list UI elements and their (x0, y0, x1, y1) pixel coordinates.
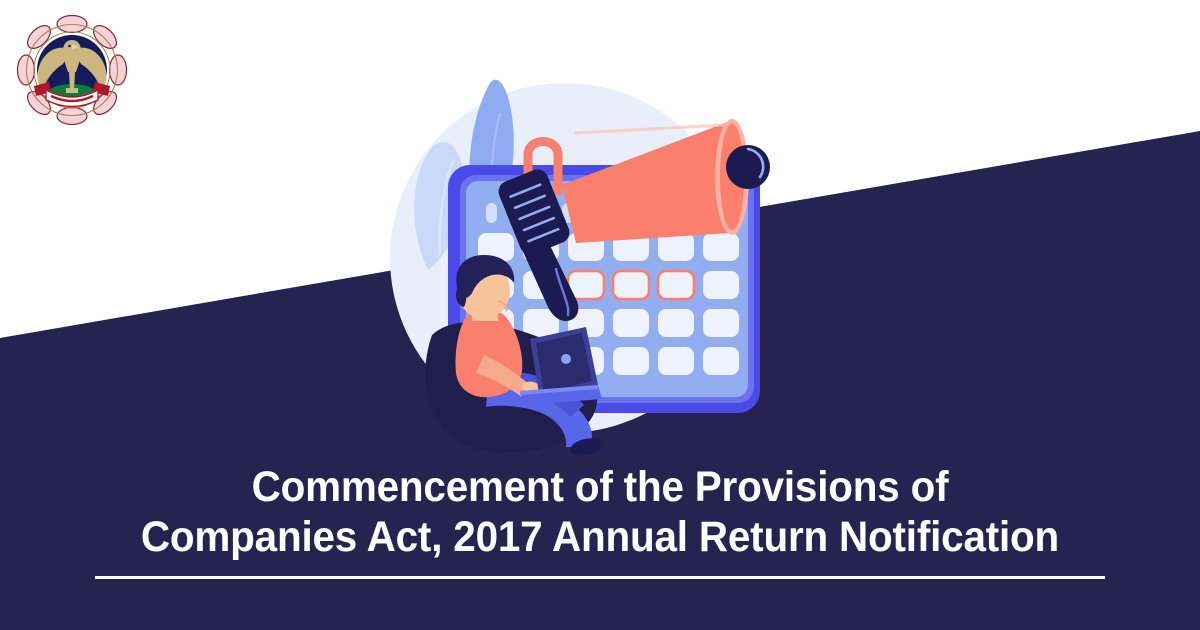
illustration (380, 55, 800, 455)
icai-logo (16, 14, 128, 126)
title-underline-rule (95, 576, 1105, 579)
title-block: Commencement of the Provisions of Compan… (0, 462, 1200, 579)
title-line-1: Commencement of the Provisions of (36, 462, 1164, 512)
banner-root: Commencement of the Provisions of Compan… (0, 0, 1200, 630)
title-line-2: Companies Act, 2017 Annual Return Notifi… (36, 512, 1164, 562)
